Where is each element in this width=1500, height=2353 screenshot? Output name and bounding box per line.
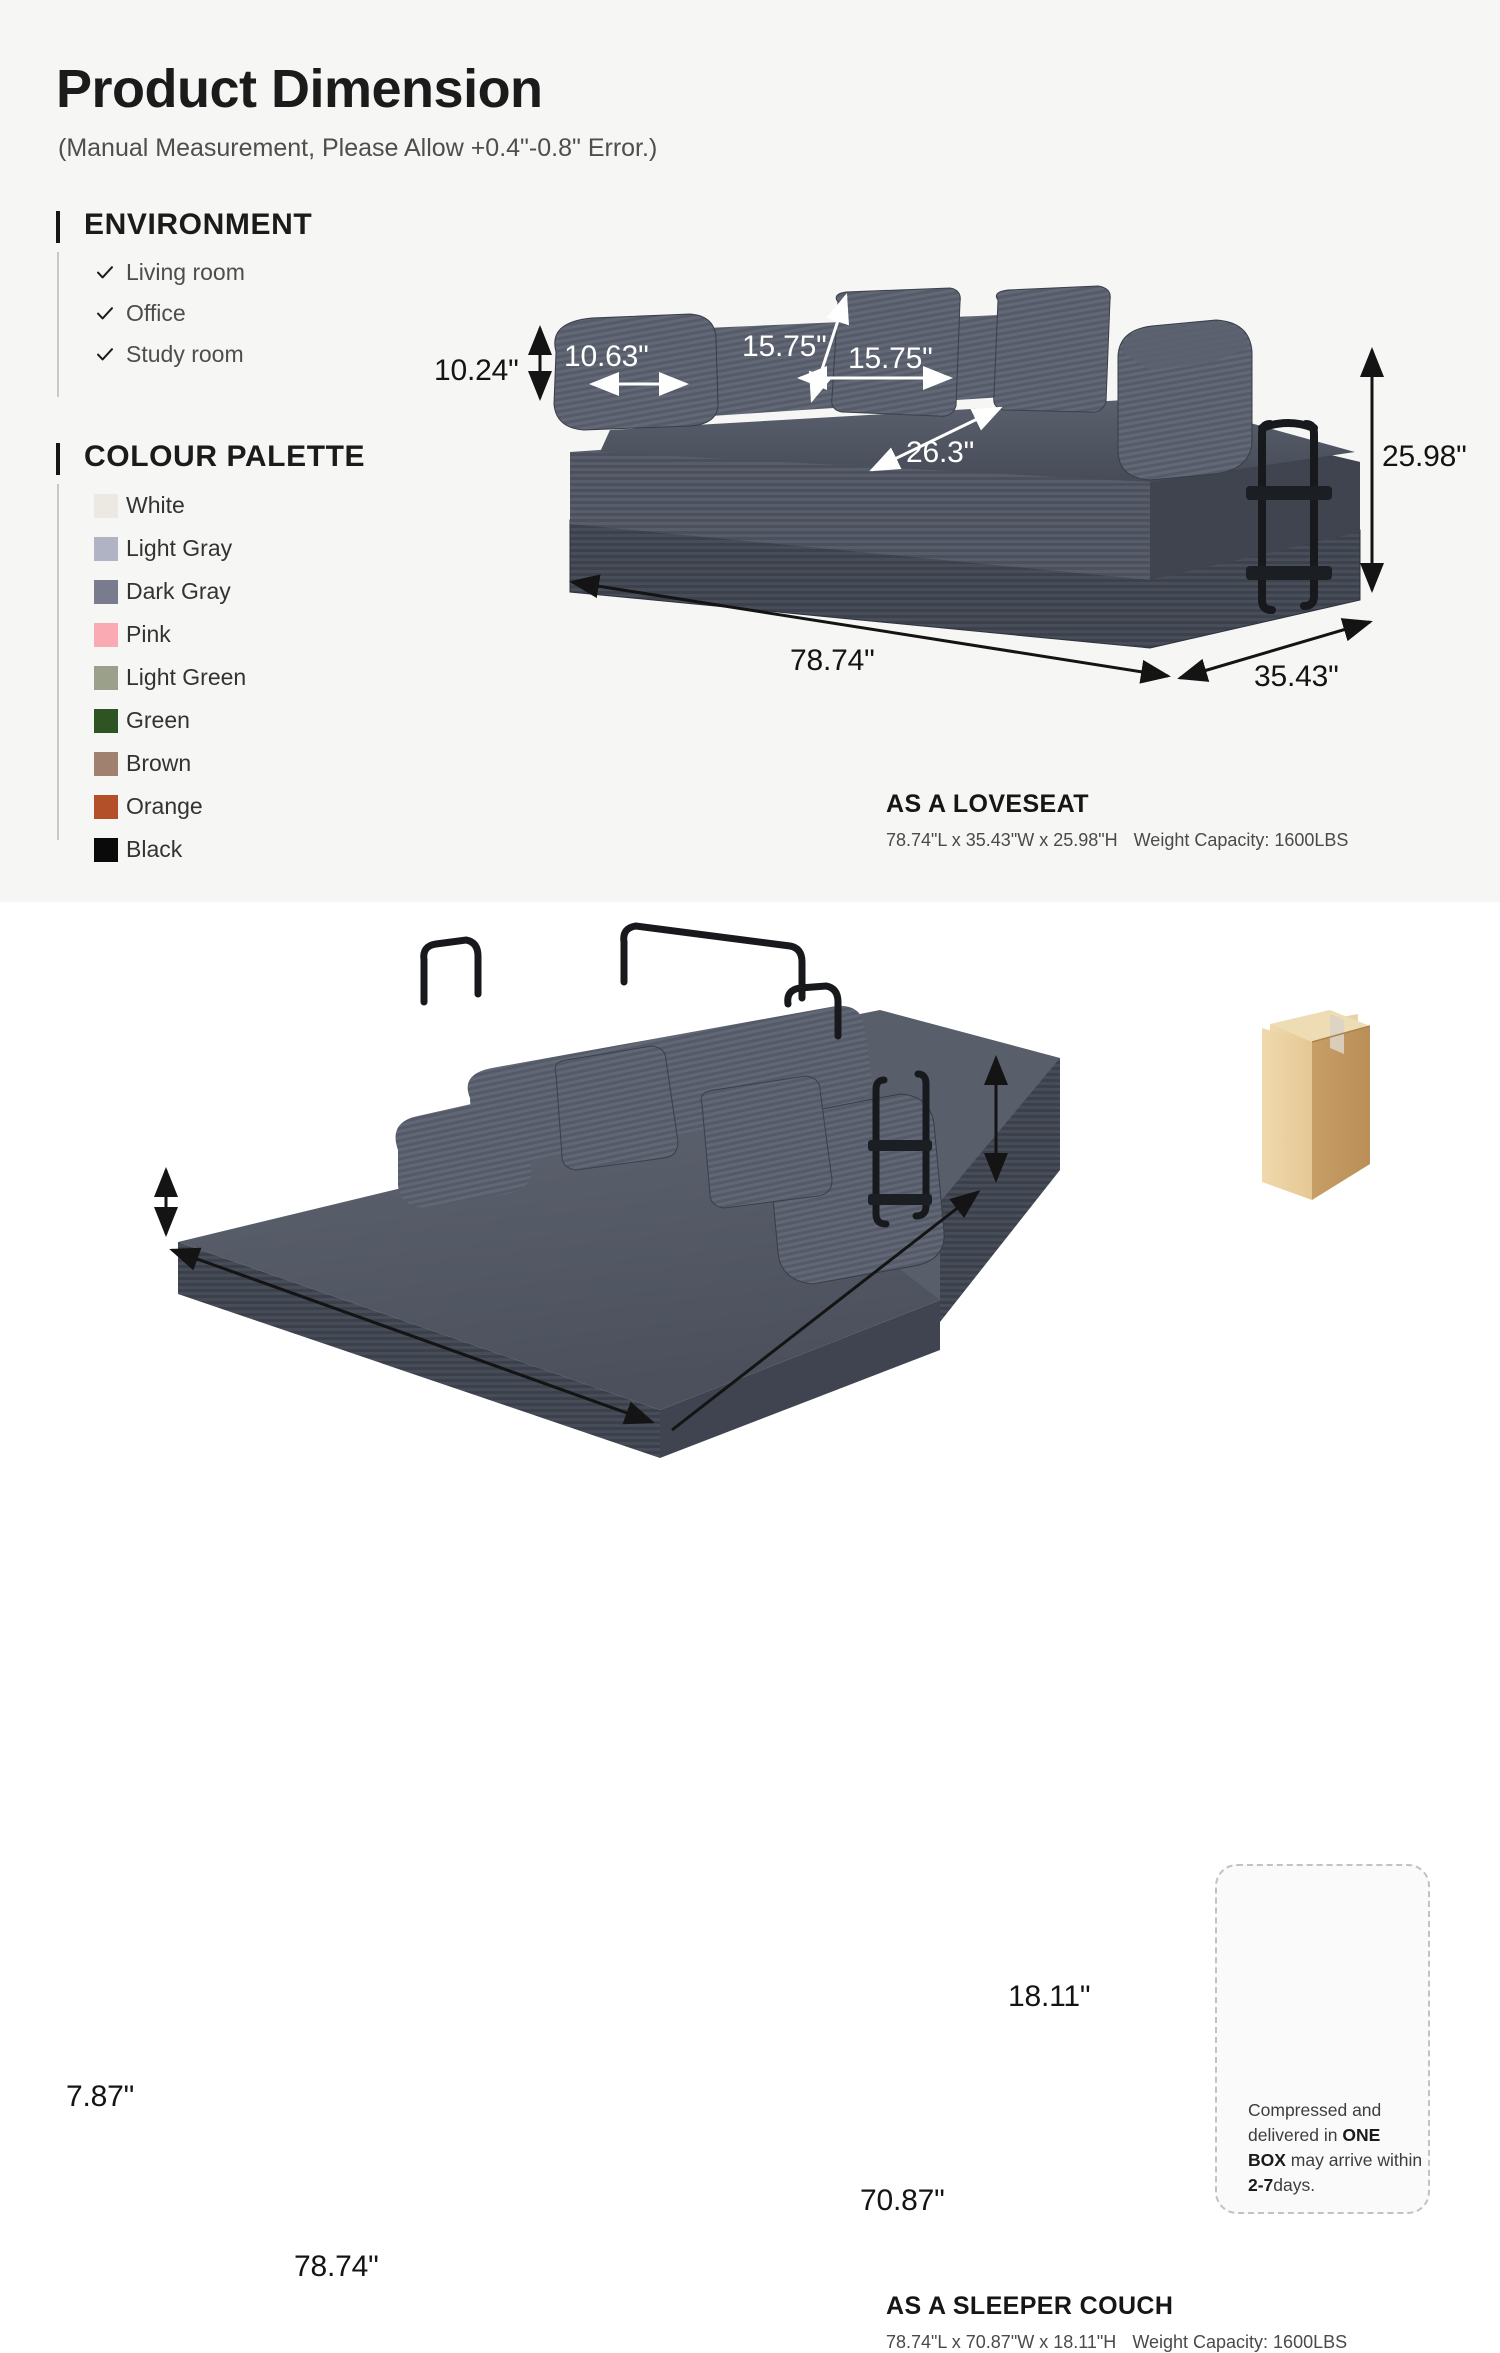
shipping-box-text: Compressed and delivered in ONE BOX may … — [1248, 2098, 1423, 2197]
dimension-pillow-height: 15.75" — [742, 330, 827, 364]
list-item-label: Black — [126, 836, 182, 863]
list-item-label: Orange — [126, 793, 203, 820]
page-title: Product Dimension — [56, 58, 543, 120]
sleeper-section: 7.87" 18.11" 78.74" 70.87" AS A SLEEPER … — [0, 902, 1500, 1500]
shipping-line-3: may — [1286, 2150, 1324, 2170]
section-accent-bar — [56, 211, 60, 243]
colour-swatch — [94, 623, 118, 647]
list-item[interactable]: Light Gray — [56, 527, 246, 570]
list-item[interactable]: Light Green — [56, 656, 246, 699]
loveseat-caption-sub: 78.74"L x 35.43"W x 25.98"HWeight Capaci… — [886, 830, 1348, 851]
shipping-bold-days: 2-7 — [1248, 2175, 1273, 2195]
sleeper-caption-dims: 78.74"L x 70.87"W x 18.11"H — [886, 2332, 1116, 2352]
colour-swatch — [94, 709, 118, 733]
list-item[interactable]: Orange — [56, 785, 246, 828]
dimension-back-height: 18.11" — [1008, 1980, 1090, 2014]
environment-title: ENVIRONMENT — [84, 208, 312, 242]
dimension-mattress-height: 7.87" — [66, 2080, 134, 2114]
colour-swatch — [94, 795, 118, 819]
list-item-label: Light Gray — [126, 535, 232, 562]
list-item[interactable]: Brown — [56, 742, 246, 785]
colour-swatch — [94, 838, 118, 862]
colour-palette-title: COLOUR PALETTE — [84, 440, 365, 474]
list-item-label: Pink — [126, 621, 171, 648]
shipping-line-2: delivered in — [1248, 2125, 1338, 2145]
loveseat-section: Product Dimension (Manual Measurement, P… — [0, 0, 1500, 902]
colour-palette-block: COLOUR PALETTE White Light Gray Dark Gra… — [56, 440, 246, 871]
list-item-label: White — [126, 492, 185, 519]
list-item-label: Dark Gray — [126, 578, 231, 605]
list-item[interactable]: Green — [56, 699, 246, 742]
list-item: Living room — [56, 252, 245, 293]
colour-swatch — [94, 580, 118, 604]
dimension-pillow-width: 15.75" — [848, 342, 933, 376]
list-item[interactable]: Black — [56, 828, 246, 871]
sleeper-caption-sub: 78.74"L x 70.87"W x 18.11"HWeight Capaci… — [886, 2332, 1347, 2353]
list-item-label: Living room — [126, 259, 245, 286]
colour-swatch — [94, 494, 118, 518]
loveseat-caption-title: AS A LOVESEAT — [886, 790, 1089, 819]
list-item[interactable]: Dark Gray — [56, 570, 246, 613]
list-item-label: Brown — [126, 750, 191, 777]
colour-swatch — [94, 666, 118, 690]
shipping-box-icon — [1270, 1014, 1358, 1500]
section-accent-bar — [56, 443, 60, 475]
list-item: Study room — [56, 334, 245, 375]
check-icon — [96, 346, 114, 364]
list-item-label: Study room — [126, 341, 244, 368]
loveseat-caption-dims: 78.74"L x 35.43"W x 25.98"H — [886, 830, 1118, 850]
colour-palette-header: COLOUR PALETTE — [56, 440, 246, 484]
dimension-seat-depth: 26.3" — [906, 436, 974, 470]
dimension-sleeper-depth: 70.87" — [860, 2184, 945, 2218]
sleeper-caption-weight: Weight Capacity: 1600LBS — [1132, 2332, 1347, 2352]
check-icon — [96, 305, 114, 323]
shipping-line-1: Compressed and — [1248, 2100, 1381, 2120]
list-item[interactable]: Pink — [56, 613, 246, 656]
colour-swatch — [94, 537, 118, 561]
dimension-length: 78.74" — [790, 644, 875, 678]
check-icon — [96, 264, 114, 282]
sleeper-caption-title: AS A SLEEPER COUCH — [886, 2292, 1173, 2321]
environment-header: ENVIRONMENT — [56, 208, 245, 252]
dimension-armrest-width: 10.63" — [564, 340, 649, 374]
dimension-width: 35.43" — [1254, 660, 1339, 694]
colour-swatch — [94, 752, 118, 776]
page-subtitle: (Manual Measurement, Please Allow +0.4"-… — [58, 134, 657, 163]
shipping-line-4: arrive within — [1329, 2150, 1422, 2170]
list-item-label: Office — [126, 300, 186, 327]
dimension-total-height: 25.98" — [1382, 440, 1467, 474]
dimension-sleeper-length: 78.74" — [294, 2250, 379, 2284]
list-item-label: Light Green — [126, 664, 246, 691]
colour-palette-list: White Light Gray Dark Gray Pink Light Gr… — [56, 484, 246, 871]
list-item[interactable]: White — [56, 484, 246, 527]
dimension-armrest-height: 10.24" — [434, 354, 519, 388]
loveseat-caption-weight: Weight Capacity: 1600LBS — [1134, 830, 1349, 850]
environment-block: ENVIRONMENT Living room Office Study ro — [56, 208, 245, 375]
list-item-label: Green — [126, 707, 190, 734]
environment-list: Living room Office Study room — [56, 252, 245, 375]
shipping-line-5: days. — [1273, 2175, 1315, 2195]
sleeper-couch-illustration — [0, 902, 1500, 1500]
list-item: Office — [56, 293, 245, 334]
